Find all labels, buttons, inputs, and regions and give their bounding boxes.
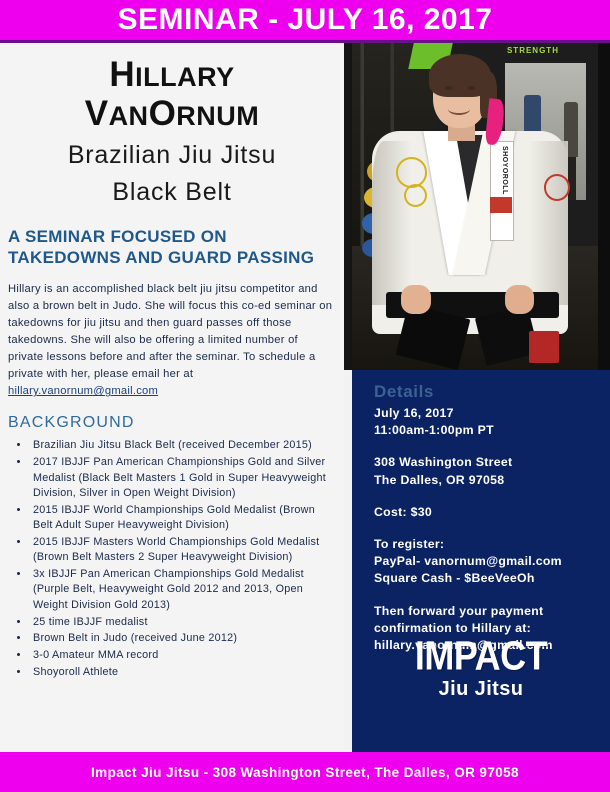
impact-jiu-jitsu-logo: IMPACT Jiu Jitsu xyxy=(352,638,610,699)
register-square-cash: Square Cash - $BeeVeeOh xyxy=(374,570,610,587)
impact-logo-subtitle: Jiu Jitsu xyxy=(352,679,610,699)
eye-right xyxy=(468,86,475,91)
last-name-initial2: O xyxy=(149,94,177,133)
gi-shoulder-patch xyxy=(396,157,427,187)
eye-left xyxy=(445,86,452,91)
background-heading: BACKGROUND xyxy=(8,414,344,432)
register-label: To register: xyxy=(374,536,610,553)
list-item: Shoyoroll Athlete xyxy=(30,665,336,680)
gi-brand-patch: SHOYOROLL xyxy=(490,141,514,241)
hand-right xyxy=(505,285,535,314)
photo-right-edge xyxy=(598,43,610,370)
seminar-flyer: SEMINAR - JULY 16, 2017 HILLARY VANORNUM… xyxy=(0,0,610,792)
gi-sleeve-patch xyxy=(544,174,570,201)
spacer xyxy=(374,588,610,603)
top-banner: SEMINAR - JULY 16, 2017 xyxy=(0,0,610,40)
instructor-photo: STRENGTH SHOYOROLL xyxy=(352,43,598,370)
list-item: 3-0 Amateur MMA record xyxy=(30,648,336,663)
seminar-focus-line1: A SEMINAR FOCUSED ON xyxy=(8,226,344,247)
event-cost: Cost: $30 xyxy=(374,504,610,521)
list-item: 2015 IBJJF Masters World Championships G… xyxy=(30,535,336,566)
venue-address-line2: The Dalles, OR 97058 xyxy=(374,472,610,489)
first-name-rest: ILLARY xyxy=(135,62,235,92)
spacer xyxy=(374,521,610,536)
left-content-column: HILLARY VANORNUM Brazilian Jiu Jitsu Bla… xyxy=(0,43,344,750)
footer-bar: Impact Jiu Jitsu - 308 Washington Street… xyxy=(0,752,610,792)
last-name-initial: V xyxy=(85,94,109,133)
gi-shadow-right xyxy=(529,141,568,305)
event-time: 11:00am-1:00pm PT xyxy=(374,422,610,439)
seminar-description: Hillary is an accomplished black belt ji… xyxy=(8,281,336,400)
list-item: Brown Belt in Judo (received June 2012) xyxy=(30,631,336,646)
last-name-part1: AN xyxy=(109,101,149,131)
instructor-first-name: HILLARY xyxy=(10,57,334,93)
list-item: 3x IBJJF Pan American Championships Gold… xyxy=(30,567,336,613)
title-block: HILLARY VANORNUM Brazilian Jiu Jitsu Bla… xyxy=(0,43,344,208)
venue-address-line1: 308 Washington Street xyxy=(374,454,610,471)
instructor-last-name: VANORNUM xyxy=(10,96,334,132)
gym-sign-text: STRENGTH xyxy=(507,46,559,55)
list-item: 2015 IBJJF World Championships Gold Meda… xyxy=(30,503,336,534)
instructor-email-link[interactable]: hillary.vanornum@gmail.com xyxy=(8,385,158,397)
spacer xyxy=(374,489,610,504)
last-name-part2: RNUM xyxy=(176,101,259,131)
footer-text: Impact Jiu Jitsu - 308 Washington Street… xyxy=(91,765,519,780)
banner-title: SEMINAR - JULY 16, 2017 xyxy=(117,5,492,35)
forward-instructions-line1: Then forward your payment xyxy=(374,603,610,620)
list-item: 25 time IBJJF medalist xyxy=(30,615,336,630)
details-heading: Details xyxy=(374,382,610,402)
seminar-focus-heading: A SEMINAR FOCUSED ON TAKEDOWNS AND GUARD… xyxy=(8,226,344,269)
seminar-focus-line2: TAKEDOWNS AND GUARD PASSING xyxy=(8,247,344,268)
gi-brand-accent xyxy=(490,197,512,213)
first-name-initial: H xyxy=(109,55,135,94)
hand-left xyxy=(401,285,431,314)
list-item: Brazilian Jiu Jitsu Black Belt (received… xyxy=(30,438,336,453)
register-paypal: PayPal- vanornum@gmail.com xyxy=(374,553,610,570)
event-date: July 16, 2017 xyxy=(374,405,610,422)
background-list: Brazilian Jiu Jitsu Black Belt (received… xyxy=(8,438,336,680)
description-text: Hillary is an accomplished black belt ji… xyxy=(8,283,332,380)
gi-brand-text: SHOYOROLL xyxy=(501,146,508,195)
instructor-rank-line2: Black Belt xyxy=(10,177,334,208)
belt-red-bar xyxy=(529,331,559,364)
list-item: 2017 IBJJF Pan American Championships Go… xyxy=(30,455,336,501)
instructor-rank-line1: Brazilian Jiu Jitsu xyxy=(10,140,334,171)
column-divider xyxy=(344,43,352,370)
impact-logo-word: IMPACT xyxy=(352,636,610,676)
details-panel: Details July 16, 2017 11:00am-1:00pm PT … xyxy=(352,370,610,750)
spacer xyxy=(374,439,610,454)
